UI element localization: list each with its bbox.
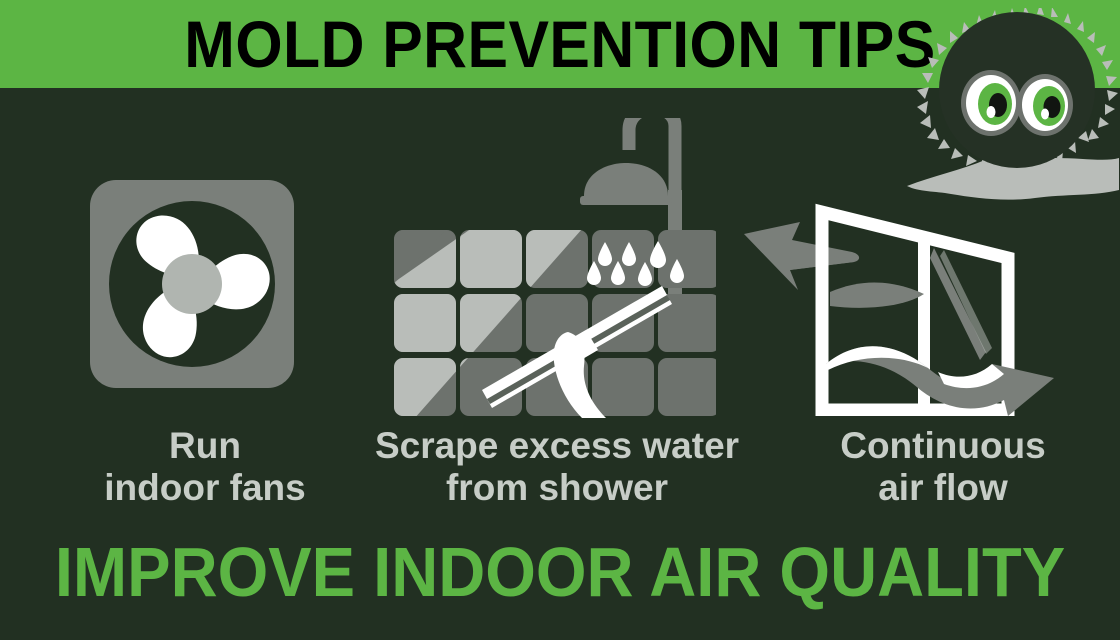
- fan-icon: [88, 178, 296, 390]
- squeegee: [482, 286, 672, 418]
- footer-headline: IMPROVE INDOOR AIR QUALITY: [39, 527, 1081, 617]
- caption-line-1: Continuous: [798, 425, 1088, 467]
- fan-blades: [127, 206, 281, 360]
- caption-line-2: air flow: [798, 467, 1088, 509]
- fan-hub: [162, 254, 222, 314]
- shower-riser: [668, 190, 682, 312]
- caption-continuous-air-flow: Continuous air flow: [798, 425, 1088, 509]
- mold-spore-character: [905, 8, 1120, 218]
- mold-prevention-infographic: MOLD PREVENTION TIPS: [0, 0, 1120, 640]
- caption-line-2: indoor fans: [40, 467, 370, 509]
- arrow-up-left-icon: [744, 222, 859, 290]
- caption-line-1: Run: [40, 425, 370, 467]
- window-frame: [822, 212, 1008, 410]
- mascot-right-eye: [1017, 74, 1073, 136]
- mascot-left-eye: [961, 70, 1021, 136]
- caption-run-indoor-fans: Run indoor fans: [40, 425, 370, 509]
- window-glass-streak: [930, 248, 992, 360]
- shower-head: [584, 163, 668, 202]
- water-droplets: [587, 241, 684, 286]
- cleaned-swath: [386, 168, 636, 418]
- airflow-swoosh-upper: [830, 282, 924, 307]
- caption-scrape-excess-water: Scrape excess water from shower: [322, 425, 792, 509]
- fan-housing: [109, 201, 275, 367]
- caption-line-2: from shower: [322, 467, 792, 509]
- airflow-swoosh-lower: [826, 346, 1054, 416]
- fan-panel: [90, 180, 294, 388]
- tile-grid: [386, 168, 716, 418]
- shower-pipe: [629, 118, 675, 198]
- shower-tile-squeegee-icon: [386, 118, 716, 418]
- caption-line-1: Scrape excess water: [322, 425, 792, 467]
- open-window-airflow-icon: [742, 196, 1062, 416]
